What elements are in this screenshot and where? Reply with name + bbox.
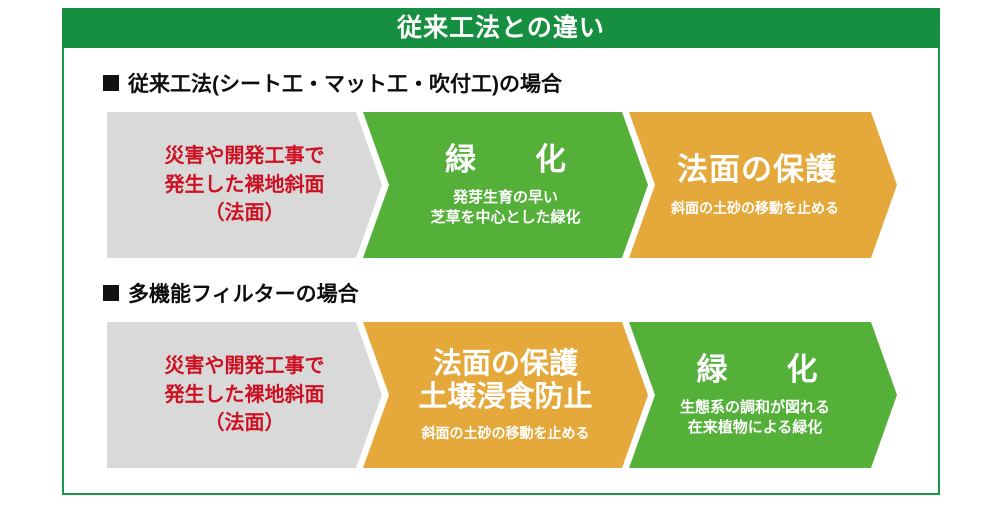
- square-bullet-icon: [103, 75, 119, 91]
- flow-step-bare-slope: 災害や開発工事で 発生した裸地斜面 （法面）: [107, 322, 382, 468]
- section-heading-label: 多機能フィルターの場合: [128, 278, 359, 308]
- title-banner: 従来工法との違い: [62, 8, 940, 48]
- flow-step-slope-protection-erosion: 法面の保護 土壌浸食防止 斜面の土砂の移動を止める: [363, 322, 648, 468]
- flow-step-line: 発生した裸地斜面: [165, 171, 325, 199]
- flow-row-multifunction-filter: 災害や開発工事で 発生した裸地斜面 （法面） 法面の保護 土壌浸食防止 斜面の土…: [107, 322, 897, 468]
- flow-step-text: 災害や開発工事で 発生した裸地斜面 （法面）: [165, 142, 325, 227]
- section-heading-label: 従来工法(シート工・マット工・吹付工)の場合: [128, 68, 562, 98]
- flow-step-subtext: 斜面の土砂の移動を止める: [422, 424, 590, 443]
- flow-step-sub-line: 生態系の調和が図れる: [680, 398, 830, 418]
- flow-step-line: （法面）: [165, 409, 325, 437]
- flow-step-line: 災害や開発工事で: [165, 352, 325, 380]
- flow-step-line: （法面）: [165, 199, 325, 227]
- section-heading-conventional: 従来工法(シート工・マット工・吹付工)の場合: [103, 68, 562, 98]
- page-title: 従来工法との違い: [397, 16, 605, 41]
- flow-step-title-line: 法面の保護: [418, 348, 592, 381]
- flow-step-text: 災害や開発工事で 発生した裸地斜面 （法面）: [165, 352, 325, 437]
- flow-step-greening: 緑 化 発芽生育の早い 芝草を中心とした緑化: [363, 112, 648, 258]
- square-bullet-icon: [103, 285, 119, 301]
- flow-step-line: 発生した裸地斜面: [165, 381, 325, 409]
- diagram-page: 従来工法との違い 従来工法(シート工・マット工・吹付工)の場合 災害や開発工事で…: [0, 0, 1000, 505]
- flow-step-subtext: 斜面の土砂の移動を止める: [671, 199, 839, 218]
- flow-step-title: 緑 化: [683, 352, 832, 389]
- flow-step-sub-line: 斜面の土砂の移動を止める: [671, 199, 839, 218]
- flow-step-slope-protection: 法面の保護 斜面の土砂の移動を止める: [629, 112, 897, 258]
- flow-step-subtext: 発芽生育の早い 芝草を中心とした緑化: [430, 188, 580, 228]
- flow-step-title: 法面の保護 土壌浸食防止: [418, 348, 592, 414]
- flow-step-sub-line: 発芽生育の早い: [430, 188, 580, 208]
- flow-step-line: 災害や開発工事で: [165, 142, 325, 170]
- flow-row-conventional: 災害や開発工事で 発生した裸地斜面 （法面） 緑 化 発芽生育の早い 芝草を中心…: [107, 112, 897, 258]
- flow-step-greening-native: 緑 化 生態系の調和が図れる 在来植物による緑化: [629, 322, 897, 468]
- flow-step-subtext: 生態系の調和が図れる 在来植物による緑化: [680, 398, 830, 438]
- flow-step-bare-slope: 災害や開発工事で 発生した裸地斜面 （法面）: [107, 112, 382, 258]
- flow-step-title-line: 土壌浸食防止: [418, 381, 592, 414]
- flow-step-sub-line: 芝草を中心とした緑化: [430, 208, 580, 228]
- flow-step-sub-line: 在来植物による緑化: [680, 418, 830, 438]
- flow-step-title: 法面の保護: [677, 152, 837, 189]
- section-heading-multifunction-filter: 多機能フィルターの場合: [103, 278, 359, 308]
- flow-step-title: 緑 化: [431, 142, 580, 179]
- flow-step-sub-line: 斜面の土砂の移動を止める: [422, 424, 590, 443]
